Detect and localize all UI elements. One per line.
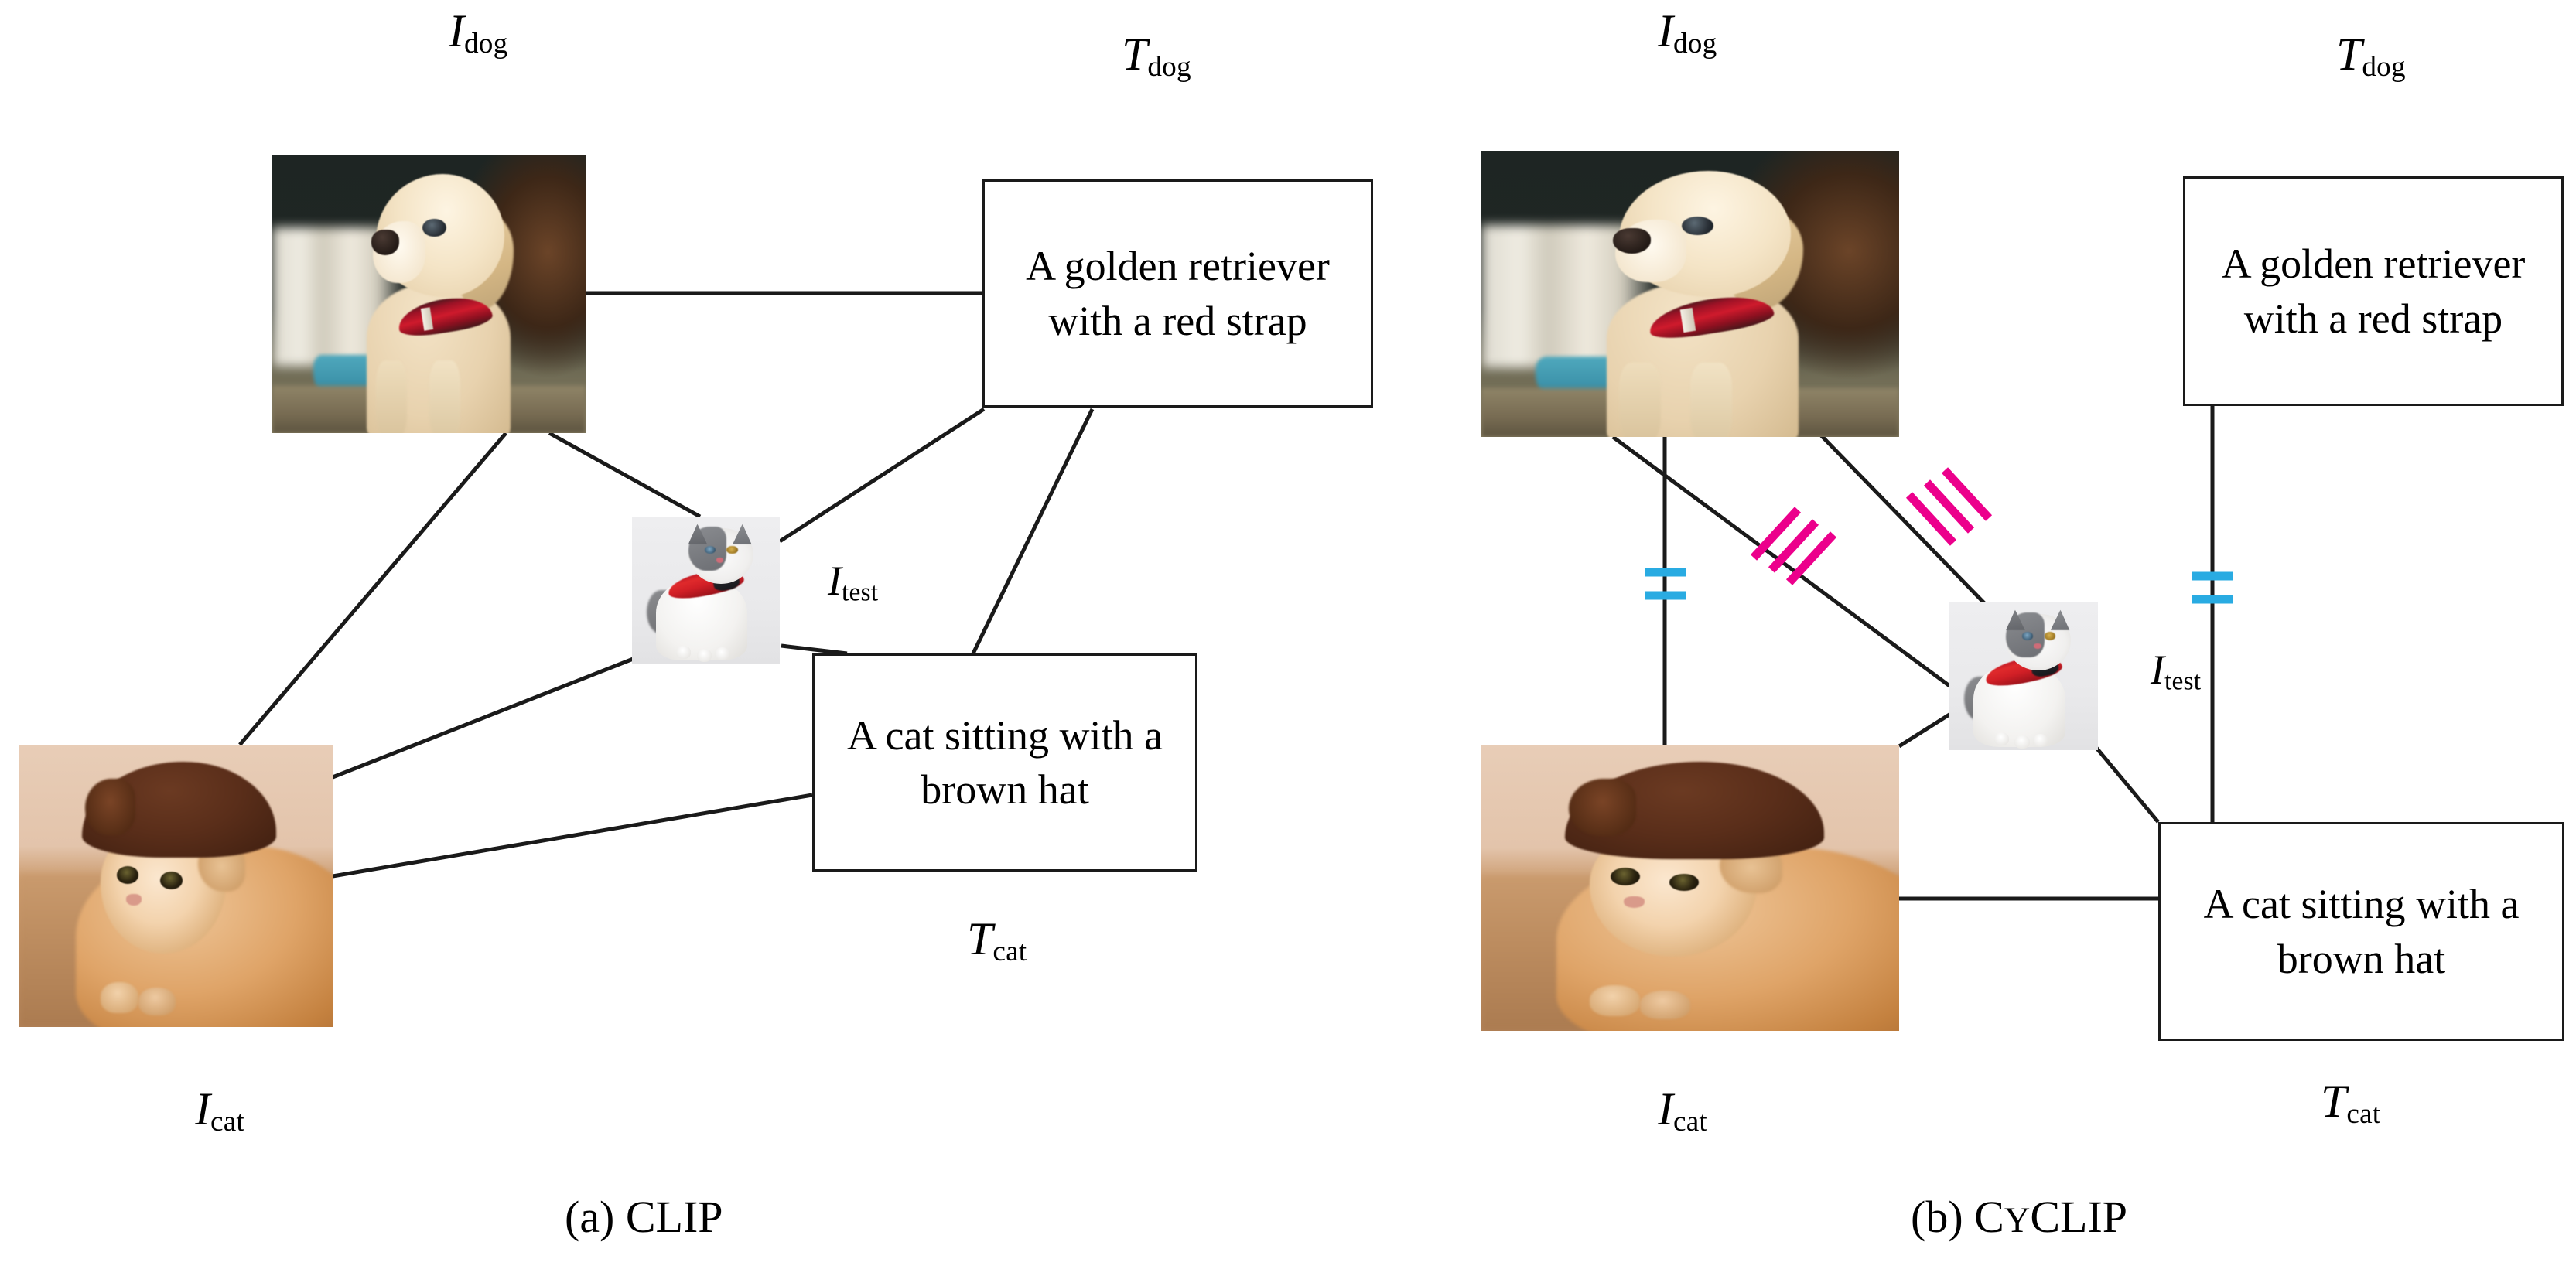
tick-magenta-left (1754, 510, 1833, 582)
figure-root: Idog Tdog A golden retriever with a red … (0, 0, 2576, 1276)
edge-a-tdog-tcat (973, 409, 1092, 653)
text-box-cat-b[interactable]: A cat sitting with a brown hat (2158, 822, 2564, 1041)
edge-b-itest-tcat (2089, 739, 2158, 822)
label-text-dog-a: Tdog (1122, 28, 1191, 84)
image-cat-a[interactable] (19, 745, 333, 1027)
hat-cat-photo-artwork (1481, 745, 1899, 1031)
label-text-dog-b: Tdog (2336, 28, 2406, 84)
test-cat-photo-artwork (1949, 602, 2098, 750)
image-cat-b[interactable] (1481, 745, 1899, 1031)
panel-caption-b: (b) CYCLIP (1911, 1191, 2127, 1243)
edge-a-idog-itest (549, 433, 700, 517)
tick-blue-left (1645, 572, 1686, 595)
edge-b-tdog-icat (1796, 410, 1992, 611)
image-dog-a[interactable] (272, 155, 586, 433)
edge-a-icat-tcat (333, 795, 812, 876)
text-box-cat-a[interactable]: A cat sitting with a brown hat (812, 653, 1197, 872)
label-image-dog-a: Idog (449, 5, 507, 60)
label-text-cat-b: Tcat (2321, 1075, 2380, 1131)
test-cat-photo-artwork (632, 517, 780, 664)
tick-magenta-right (1909, 470, 1989, 543)
edge-a-tdog-itest (780, 409, 984, 541)
edge-a-idog-icat (240, 433, 506, 745)
hat-cat-photo-artwork (19, 745, 333, 1027)
label-image-test-b: Itest (2151, 646, 2201, 696)
image-dog-b[interactable] (1481, 151, 1899, 437)
text-box-dog-b[interactable]: A golden retriever with a red strap (2183, 176, 2564, 406)
label-image-dog-b: Idog (1658, 5, 1717, 60)
label-image-cat-b: Icat (1658, 1083, 1707, 1138)
label-image-test-a: Itest (828, 557, 878, 607)
dog-photo-artwork (1481, 151, 1899, 437)
label-text-cat-a: Tcat (967, 913, 1027, 968)
dog-photo-artwork (272, 155, 586, 433)
edge-a-itest-tcat (781, 646, 847, 653)
panel-caption-a: (a) CLIP (565, 1191, 723, 1243)
image-test-a[interactable] (632, 517, 780, 664)
image-test-b[interactable] (1949, 602, 2098, 750)
tick-blue-right (2192, 576, 2233, 599)
edge-a-icat-itest (333, 657, 639, 777)
label-image-cat-a: Icat (195, 1083, 244, 1138)
text-box-dog-a[interactable]: A golden retriever with a red strap (982, 179, 1373, 408)
